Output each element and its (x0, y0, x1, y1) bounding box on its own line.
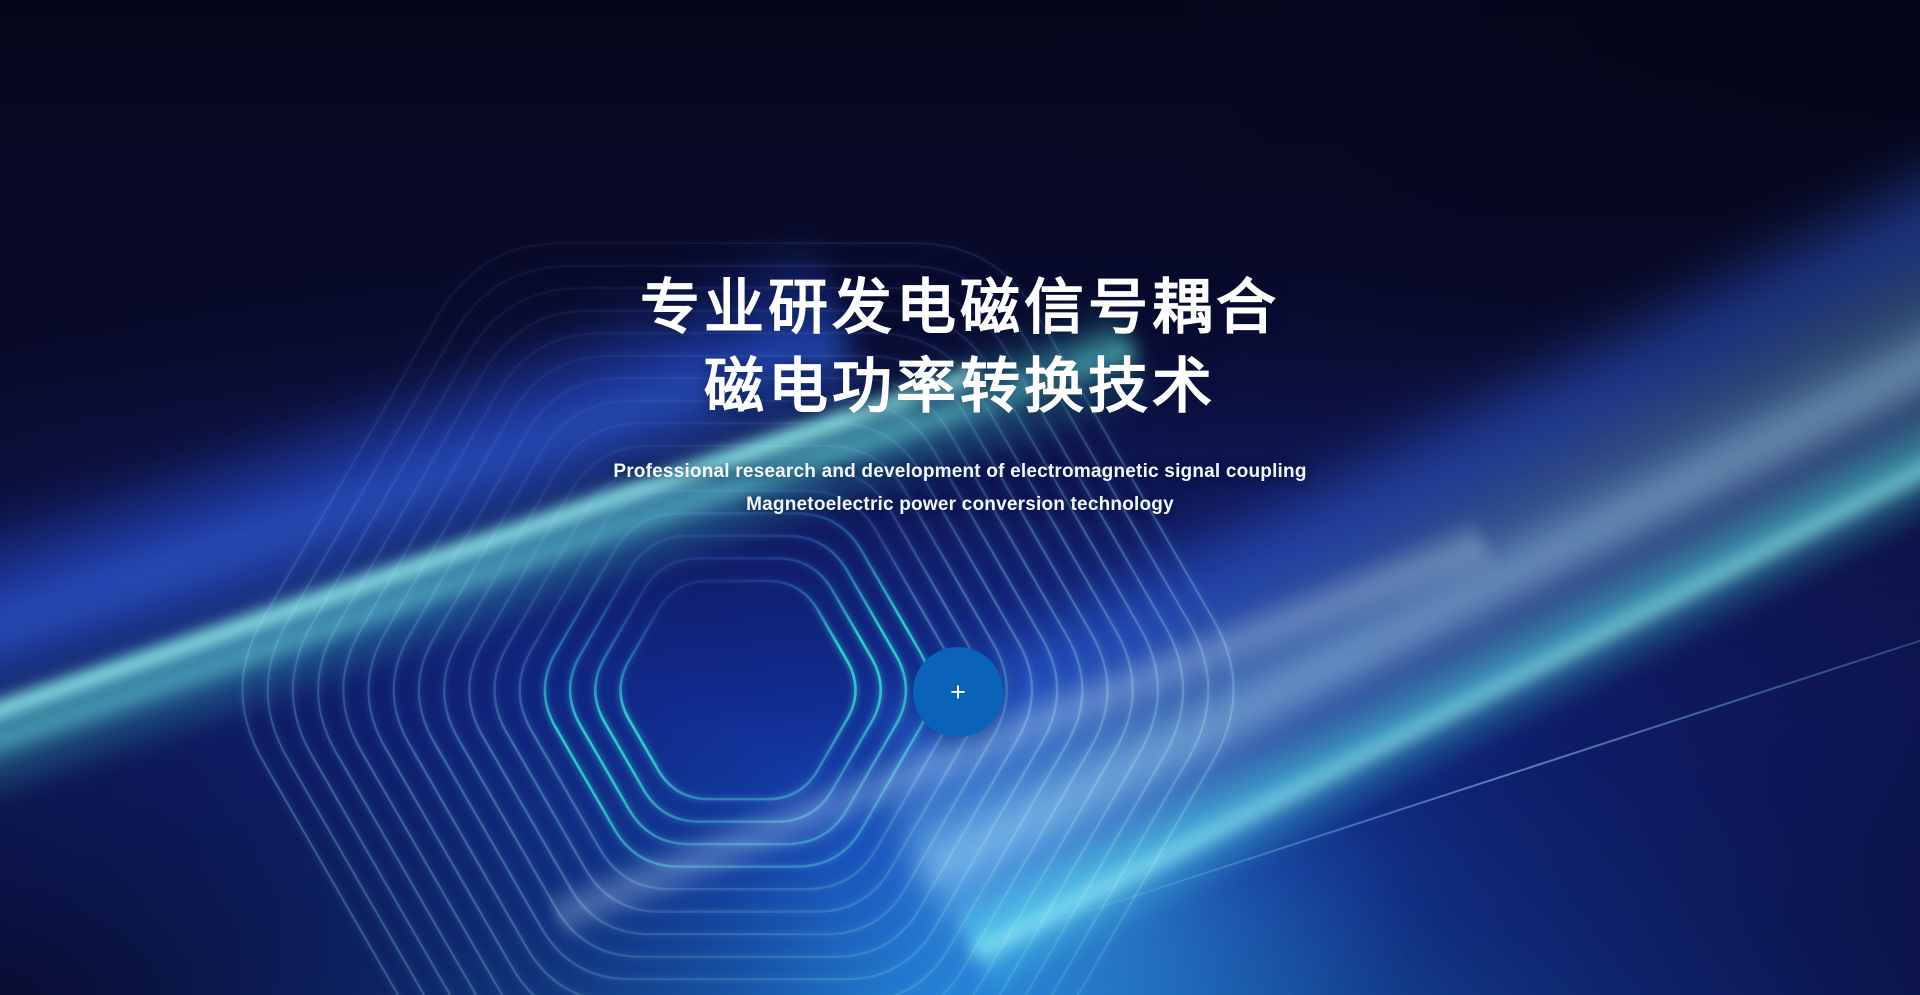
hero-subtitle-line-1: Professional research and development of… (0, 456, 1920, 488)
plus-button[interactable]: + (913, 647, 1003, 737)
hero-subtitle: Professional research and development of… (0, 456, 1920, 521)
hero-subtitle-line-2: Magnetoelectric power conversion technol… (0, 489, 1920, 521)
hero-copy: 专业研发电磁信号耦合 磁电功率转换技术 Professional researc… (0, 268, 1920, 521)
plus-icon: + (913, 647, 1003, 737)
hero-banner: 专业研发电磁信号耦合 磁电功率转换技术 Professional researc… (0, 0, 1920, 995)
hero-title-line-2: 磁电功率转换技术 (0, 347, 1920, 426)
hero-title-line-1: 专业研发电磁信号耦合 (0, 268, 1920, 347)
